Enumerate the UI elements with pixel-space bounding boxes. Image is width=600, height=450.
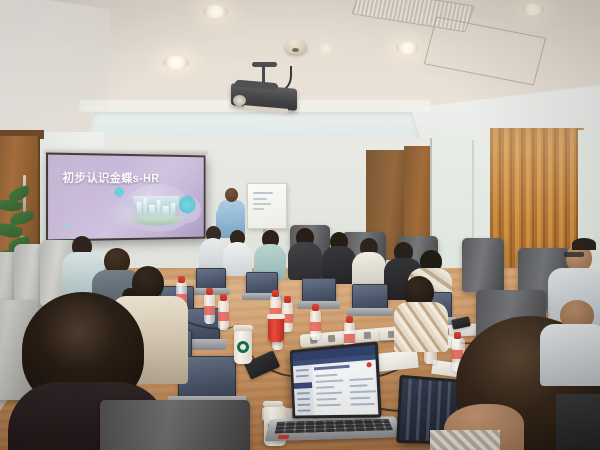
slide-decor-circle — [114, 187, 124, 197]
whiteboard-writing — [253, 198, 267, 200]
laptop-screen-content — [292, 345, 378, 416]
laptop-open-screen[interactable] — [290, 341, 382, 418]
starbucks-logo-icon — [237, 341, 249, 353]
smoke-detector-icon — [285, 39, 307, 54]
ceiling-downlight-icon — [203, 5, 228, 18]
water-bottle — [204, 294, 215, 324]
app-sidebar-selected-item — [294, 382, 312, 389]
red-paper-cup — [268, 318, 284, 342]
clothing — [430, 430, 500, 450]
slide-decor-circle — [67, 223, 72, 228]
laptop-badge — [278, 435, 289, 439]
laptop[interactable] — [556, 394, 600, 450]
ceiling-downlight-icon — [163, 56, 189, 69]
whiteboard-writing — [253, 208, 264, 210]
office-chair — [462, 238, 504, 292]
app-sidebar — [293, 365, 314, 416]
ceiling-downlight-icon — [396, 42, 419, 54]
meeting-room-photo: 初步认识金蝶s-HR — [0, 0, 600, 450]
app-form-body — [313, 362, 376, 414]
projector-lens-icon — [233, 95, 246, 106]
presenter-head — [225, 188, 238, 202]
slide-decor-circle — [179, 196, 196, 214]
whiteboard-writing — [253, 192, 273, 194]
water-bottle — [310, 310, 321, 340]
app-form-title — [314, 365, 350, 371]
laptop-keyboard[interactable] — [275, 419, 393, 434]
ceiling-downlight-icon — [317, 44, 335, 53]
projection-screen: 初步认识金蝶s-HR — [46, 152, 206, 241]
starbucks-cup — [234, 330, 252, 364]
whiteboard-writing — [253, 203, 271, 205]
water-bottle — [218, 300, 229, 330]
office-chair — [100, 400, 250, 450]
eyeglasses-icon — [564, 252, 584, 257]
laptop-keyboard-base[interactable] — [265, 416, 405, 441]
hair — [572, 238, 596, 250]
ceiling-downlight-icon — [522, 4, 544, 15]
projection-screen-surface: 初步认识金蝶s-HR — [48, 155, 204, 240]
slide-title: 初步认识金蝶s-HR — [62, 169, 159, 186]
whiteboard — [247, 183, 287, 229]
